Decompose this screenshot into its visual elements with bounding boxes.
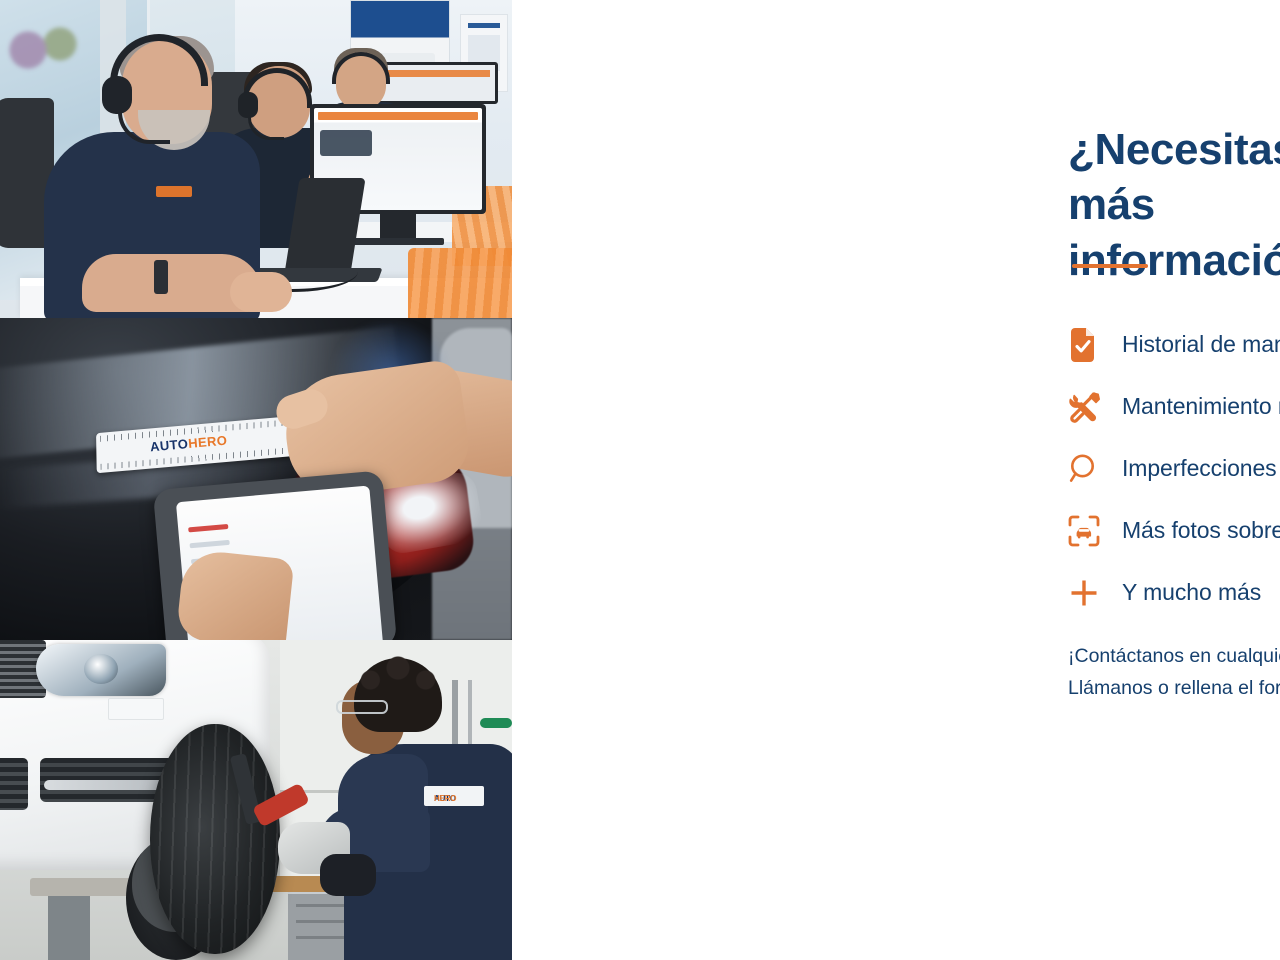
feature-label: Historial de mantenimientos [1122,331,1280,359]
contact-text: ¡Contáctanos en cualquier momento para m… [1068,641,1280,704]
glasses-icon [336,700,388,714]
photo-column: AUTOHERO [0,0,512,960]
lower-grille-side [0,758,28,810]
feature-item-imperfecciones: Imperfecciones [1068,438,1280,500]
feature-label: Mantenimiento realizado [1122,393,1280,421]
monitor-stand [380,214,416,240]
feature-item-mucho-mas: Y mucho más [1068,562,1280,624]
plus-icon [1068,577,1122,609]
feature-label: Más fotos sobre el coche [1122,517,1280,545]
contact-line-2: Llámanos o rellena el formulario de cont… [1068,673,1280,705]
headline-line-2: más información? [1068,177,1280,288]
document-check-icon [1068,328,1122,362]
polo-logo [156,186,192,197]
feature-list: Historial de mantenimientos Mantenimient… [1068,314,1280,624]
magnifier-icon [1068,453,1122,485]
license-plate [108,698,164,720]
contact-line-1: ¡Contáctanos en cualquier momento para m… [1068,641,1280,673]
feature-item-fotos: Más fotos sobre el coche [1068,500,1280,562]
content-panel: ¿Necesitas más información? Historial de… [512,0,1280,960]
tools-wrench-screwdriver-icon [1068,391,1122,424]
workshop-tire-photo: AUTOHERO [0,640,512,960]
work-glove-2 [320,854,376,896]
agent-1 [34,36,264,318]
uniform-logo-badge: AUTOHERO [424,786,484,806]
lift-post [48,896,90,960]
headline-line-1: ¿Necesitas [1068,122,1280,177]
call-center-agents-photo [0,0,512,318]
car-photo-frame-icon [1068,515,1122,547]
feature-item-mantenimiento: Mantenimiento realizado [1068,376,1280,438]
promo-banner: AUTOHERO [0,0,1280,960]
feature-label: Imperfecciones [1122,455,1277,483]
orange-chairs [408,248,512,318]
car-inspection-photo: AUTOHERO [0,318,512,640]
feature-item-historial: Historial de mantenimientos [1068,314,1280,376]
title-divider [1072,264,1148,268]
inspector-hand-2 [176,548,295,640]
monitor-base [352,238,444,245]
removed-tire [150,724,280,954]
headlight [36,644,166,696]
feature-label: Y mucho más [1122,579,1261,607]
workshop-technician: AUTOHERO [330,658,512,960]
